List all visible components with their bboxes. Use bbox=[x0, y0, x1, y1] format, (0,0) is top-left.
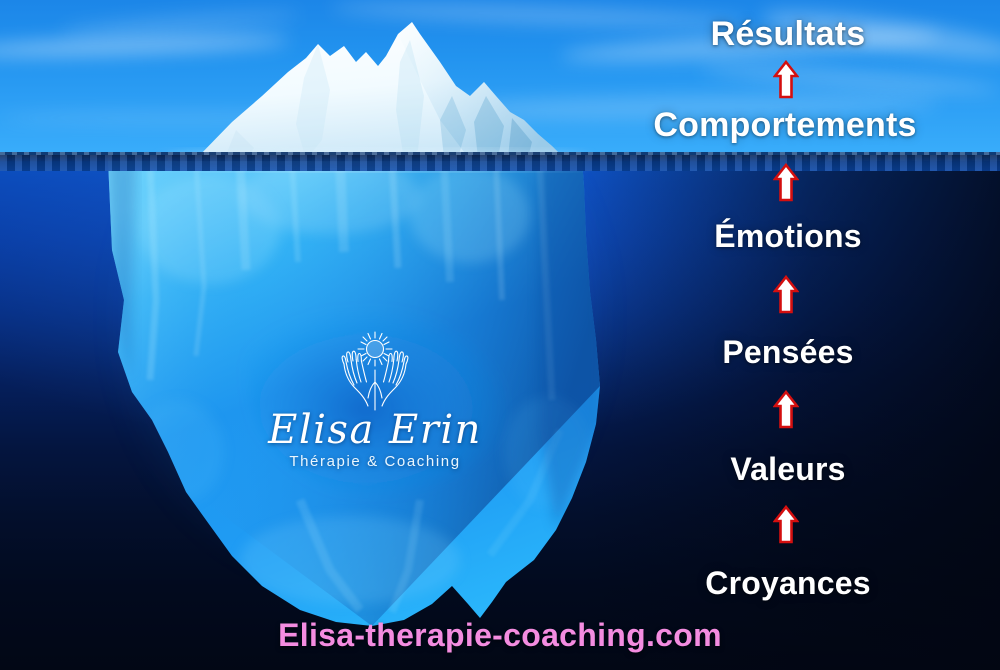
level-label-resultats: Résultats bbox=[711, 15, 866, 54]
cloud-wisp bbox=[330, 1, 750, 30]
cloud-wisp bbox=[60, 10, 300, 37]
iceberg-infographic: Résultats Comportements Émotions Pensées… bbox=[0, 0, 1000, 670]
water-surface-ripples bbox=[0, 155, 1000, 171]
cloud-wisp bbox=[700, 62, 1000, 97]
level-label-comportements: Comportements bbox=[653, 106, 916, 145]
level-label-pensees: Pensées bbox=[722, 334, 853, 371]
level-label-croyances: Croyances bbox=[705, 565, 870, 602]
cloud-wisp bbox=[0, 32, 290, 60]
website-url[interactable]: Elisa-therapie-coaching.com bbox=[278, 617, 722, 654]
arrow-valeurs-to-pensees bbox=[773, 390, 799, 435]
arrow-croyances-to-valeurs bbox=[773, 505, 799, 550]
arrow-emotions-to-comportements bbox=[773, 163, 799, 208]
arrow-pensees-to-emotions bbox=[773, 275, 799, 320]
cloud-wisp bbox=[0, 112, 360, 124]
level-label-valeurs: Valeurs bbox=[730, 451, 845, 488]
level-label-emotions: Émotions bbox=[714, 218, 861, 255]
arrow-comportements-to-resultats bbox=[773, 60, 799, 105]
